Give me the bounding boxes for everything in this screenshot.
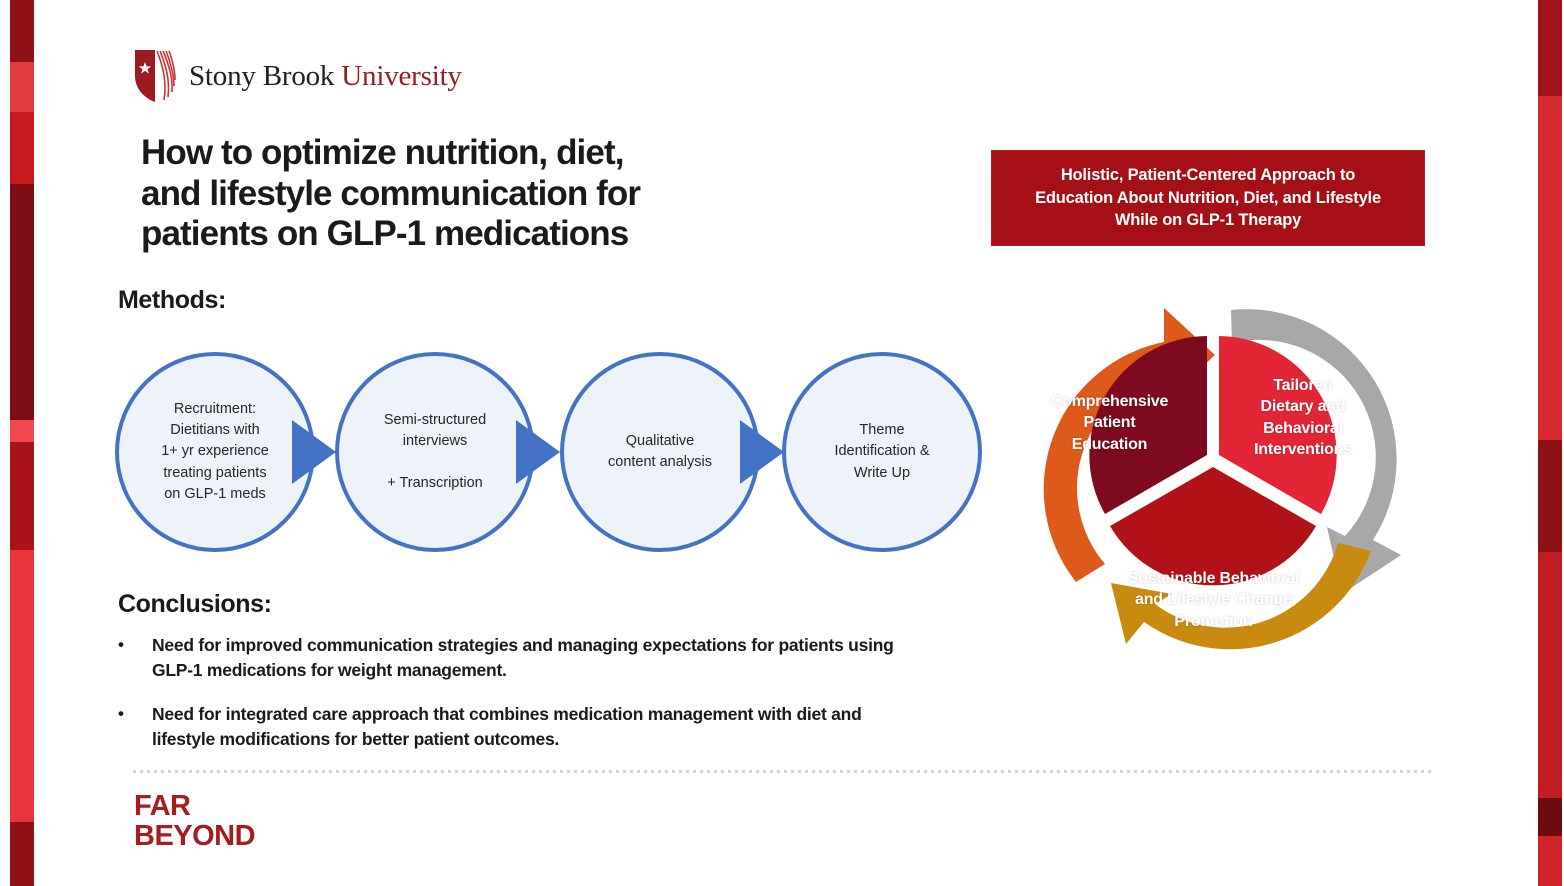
far-beyond-logo: FAR BEYOND xyxy=(134,791,255,851)
title-line-2: and lifestyle communication for xyxy=(141,174,781,215)
bullet-marker-icon: • xyxy=(118,702,152,752)
stripe-segment xyxy=(10,62,34,112)
stripe-segment xyxy=(10,184,34,420)
dotted-divider xyxy=(133,770,1433,773)
stripe-segment xyxy=(1538,552,1562,798)
stripe-segment xyxy=(1538,836,1562,886)
stripe-segment xyxy=(1538,96,1562,440)
stripe-segment xyxy=(1538,798,1562,836)
title-line-3: patients on GLP-1 medications xyxy=(141,214,781,255)
list-item: • Need for integrated care approach that… xyxy=(118,702,908,752)
cycle-segment-label-1: Comprehensive Patient Education xyxy=(1017,391,1202,455)
logo-wordmark: Stony Brook University xyxy=(189,60,462,93)
stony-brook-logo: Stony Brook University xyxy=(133,48,462,104)
stripe-segment xyxy=(10,0,34,62)
flow-arrow-3-icon xyxy=(740,420,784,484)
flow-step-4: Theme Identification & Write Up xyxy=(782,352,982,552)
list-item: • Need for improved communication strate… xyxy=(118,633,908,683)
cycle-segment-label-3: Sustainable Behavioral and Lifestyle Cha… xyxy=(1091,568,1336,632)
cycle-diagram: Comprehensive Patient Education Tailored… xyxy=(983,255,1443,665)
conclusion-text-1: Need for improved communication strategi… xyxy=(152,633,908,683)
page-title: How to optimize nutrition, diet, and lif… xyxy=(141,133,781,255)
stripe-segment xyxy=(1538,0,1562,96)
cycle-segment-label-2: Tailored Dietary and Behavioral Interven… xyxy=(1223,375,1383,460)
methods-process-flow: Recruitment: Dietitians with 1+ yr exper… xyxy=(110,352,970,557)
flow-step-1-label: Recruitment: Dietitians with 1+ yr exper… xyxy=(145,399,285,504)
logo-text-red: University xyxy=(341,60,461,92)
bullet-marker-icon: • xyxy=(118,633,152,683)
stripe-segment xyxy=(10,112,34,184)
stripe-segment xyxy=(1538,440,1562,552)
title-line-1: How to optimize nutrition, diet, xyxy=(141,133,781,174)
stripe-segment xyxy=(10,822,34,886)
right-decorative-stripe xyxy=(1538,0,1562,886)
flow-step-3-label: Qualitative content analysis xyxy=(592,431,728,473)
stripe-segment xyxy=(10,550,34,822)
stripe-segment xyxy=(10,442,34,550)
flow-arrow-2-icon xyxy=(516,420,560,484)
flow-step-2: Semi-structured interviews + Transcripti… xyxy=(335,352,535,552)
flow-step-1: Recruitment: Dietitians with 1+ yr exper… xyxy=(115,352,315,552)
logo-text-dark: Stony Brook xyxy=(189,60,341,92)
far-beyond-line-2: BEYOND xyxy=(134,821,255,851)
right-panel-header-box: Holistic, Patient-Centered Approach to E… xyxy=(991,150,1425,246)
presentation-slide: Stony Brook University How to optimize n… xyxy=(0,0,1564,886)
stripe-segment xyxy=(10,420,34,442)
flow-step-3: Qualitative content analysis xyxy=(560,352,760,552)
flow-step-2-label: Semi-structured interviews + Transcripti… xyxy=(368,410,502,494)
conclusion-text-2: Need for integrated care approach that c… xyxy=(152,702,908,752)
methods-heading: Methods: xyxy=(118,286,226,315)
far-beyond-line-1: FAR xyxy=(134,791,255,821)
conclusions-list: • Need for improved communication strate… xyxy=(118,633,908,770)
left-decorative-stripe xyxy=(10,0,34,886)
stony-brook-shield-icon xyxy=(133,48,177,104)
flow-step-4-label: Theme Identification & Write Up xyxy=(818,420,945,483)
conclusions-heading: Conclusions: xyxy=(118,590,272,619)
right-panel-header-text: Holistic, Patient-Centered Approach to E… xyxy=(1023,164,1393,232)
flow-arrow-1-icon xyxy=(292,420,336,484)
